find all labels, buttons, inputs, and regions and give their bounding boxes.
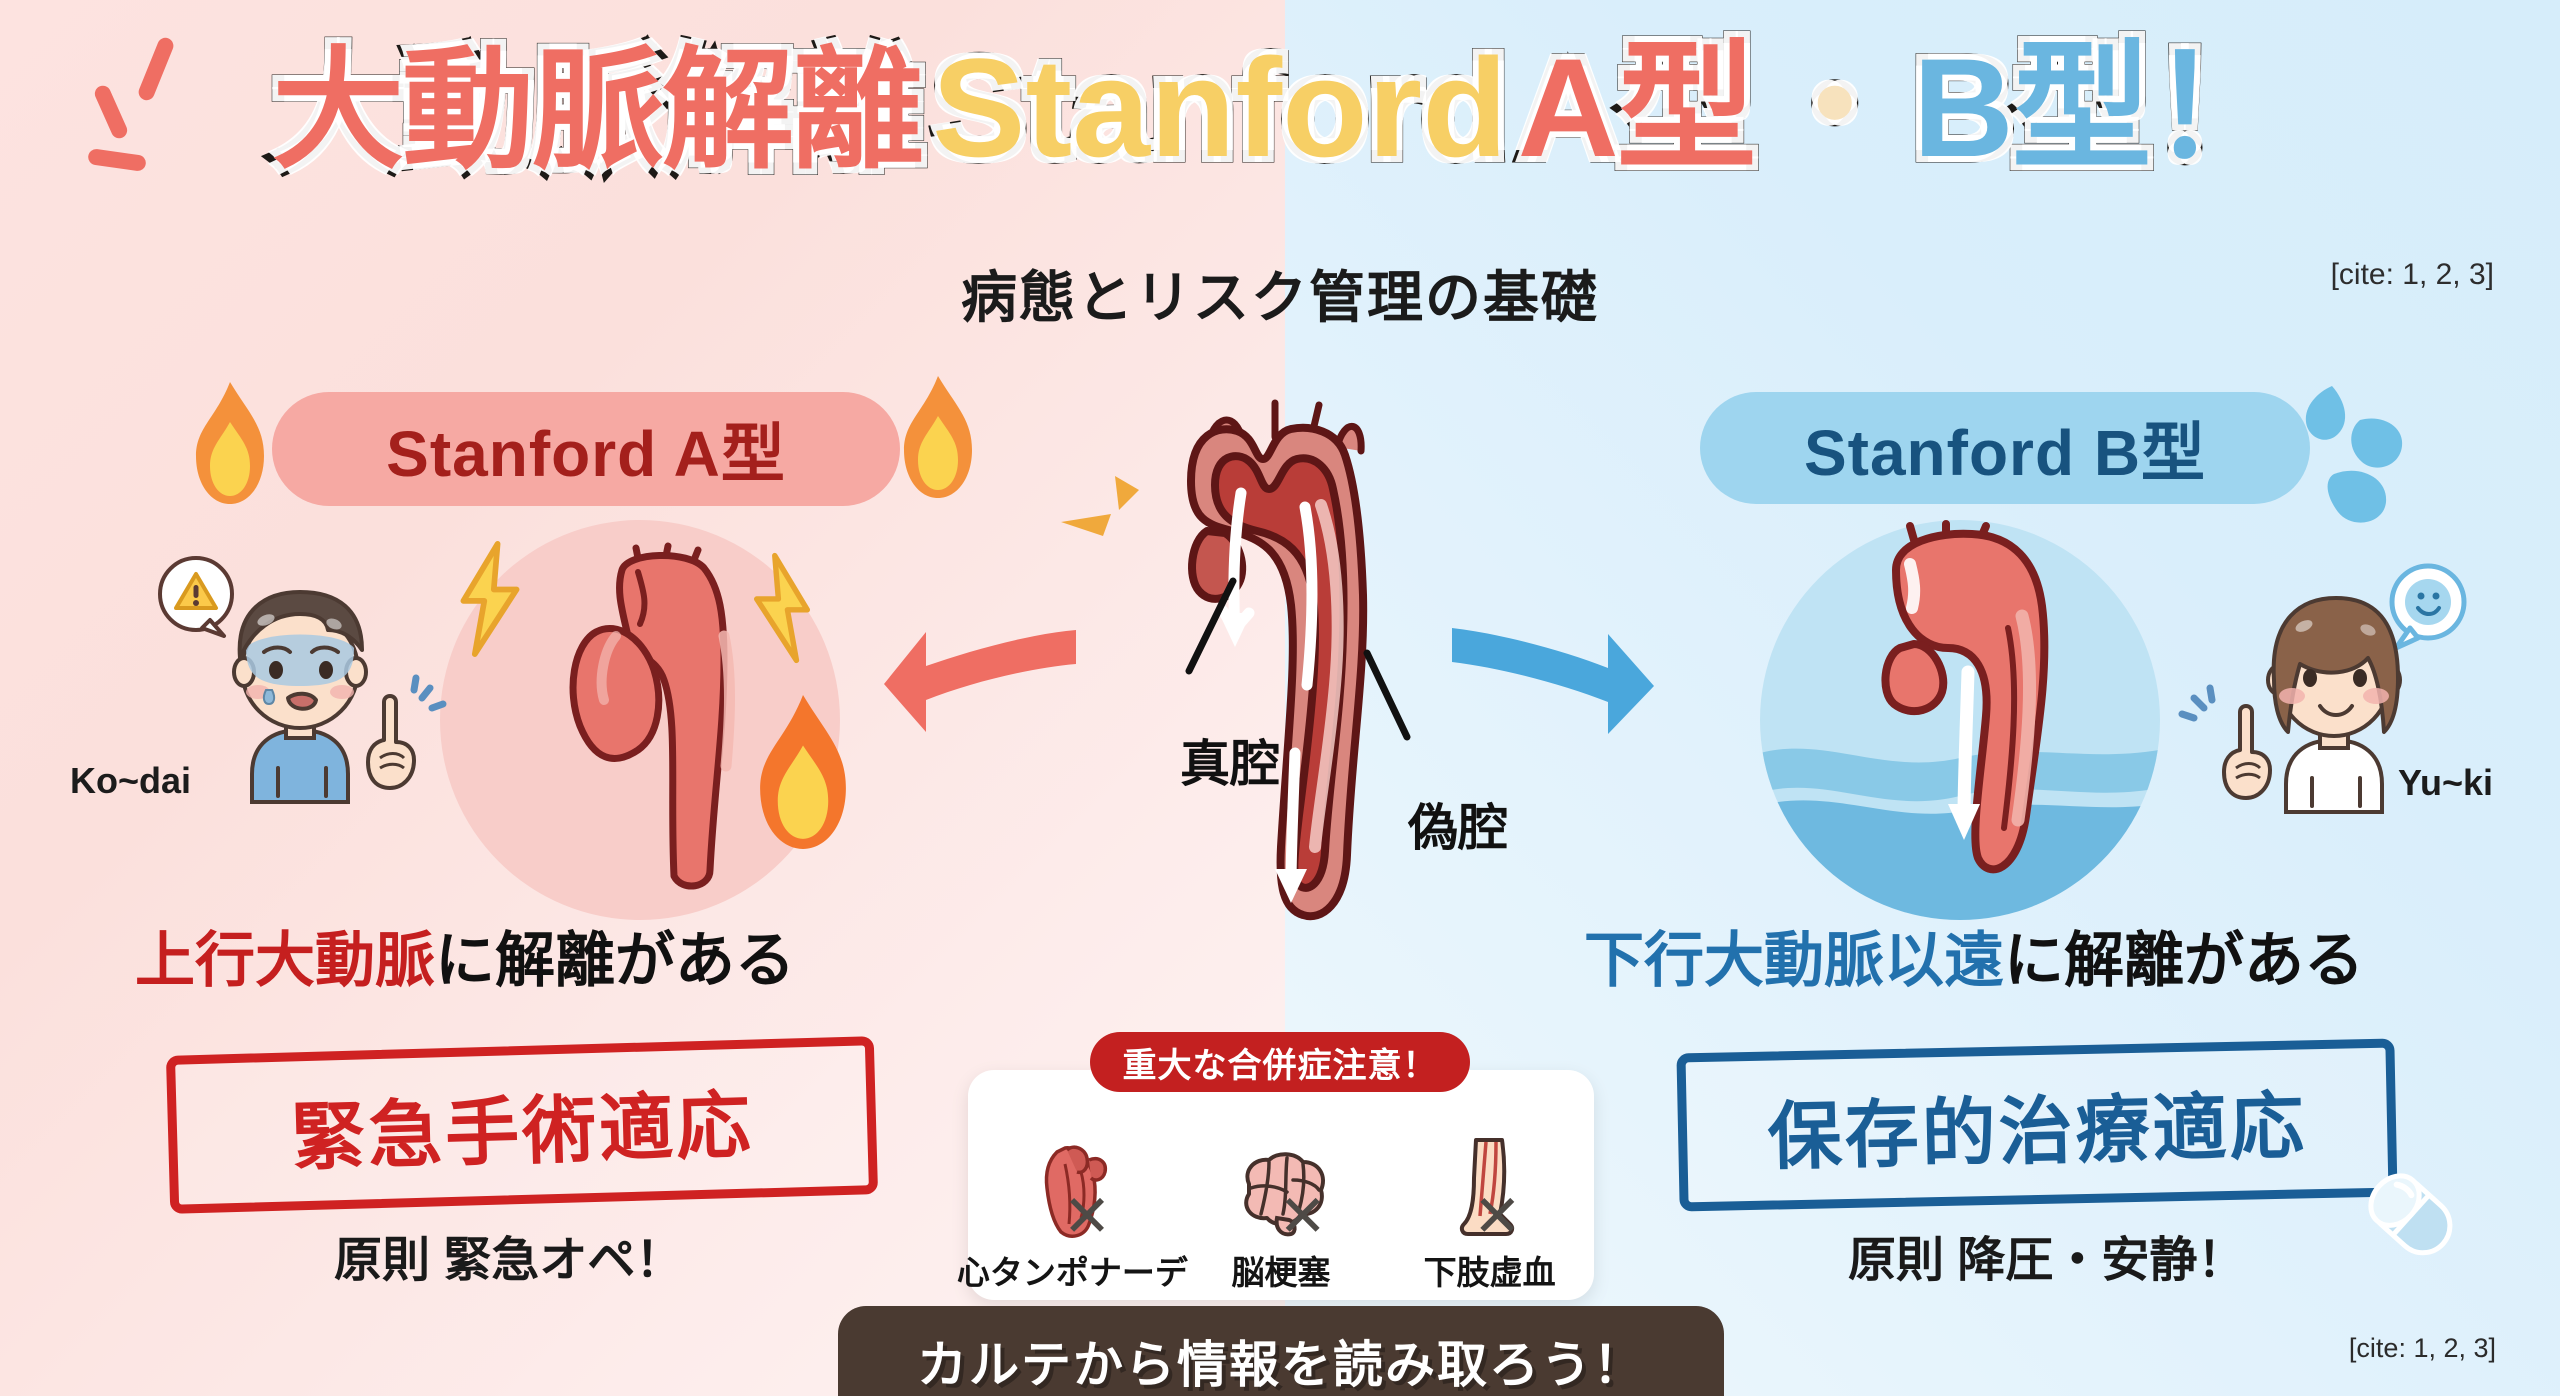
type-b-stamp-label: 保存的治療適応 (1766, 1066, 2307, 1184)
bottom-banner-label: カルテから情報を読み取ろう！ (917, 1325, 1645, 1396)
type-b-badge-label: Stanford B型 (1804, 402, 2206, 494)
type-a-badge: Stanford A型 (272, 392, 900, 506)
character-yuki (2178, 560, 2478, 860)
character-name-left: Ko~dai (70, 760, 191, 802)
character-name-right: Yu~ki (2398, 762, 2493, 804)
type-b-badge: Stanford B型 (1700, 392, 2310, 504)
cross-mark-icon: ✕ (1063, 1188, 1112, 1246)
lightning-icon (744, 552, 820, 664)
complications-list: ✕ 心タンポナーデ ✕ 脳梗塞 ✕ (968, 1108, 1594, 1294)
bottom-banner: カルテから情報を読み取ろう！ (838, 1306, 1724, 1396)
complication-label: 下肢虚血 (1424, 1246, 1556, 1294)
character-kodai (148, 552, 448, 852)
title-separator: ・ (1765, 34, 1903, 181)
page-title: 大動脈解離 Stanford A型 ・ B型！ (0, 34, 2560, 181)
page-subtitle: 病態とリスク管理の基礎 (0, 253, 2560, 334)
type-b-note: 原則 降圧・安静！ (1848, 1220, 2245, 1290)
complication-item: ✕ 心タンポナーデ (972, 1138, 1172, 1294)
complications-header: 重大な合併症注意！ (1090, 1032, 1470, 1092)
complication-item: ✕ 脳梗塞 (1181, 1138, 1381, 1294)
leg-icon: ✕ (1452, 1138, 1528, 1242)
brain-icon: ✕ (1229, 1138, 1333, 1242)
type-a-description: 上行大動脈に解離がある (135, 912, 795, 999)
aorta-dissection-diagram (1115, 385, 1465, 955)
flame-icon (898, 372, 978, 502)
type-a-stamp: 緊急手術適応 (166, 1036, 878, 1214)
label-false-lumen: 偽腔 (1408, 788, 1508, 860)
citation-top: [cite: 1, 2, 3] (2331, 258, 2494, 292)
label-true-lumen: 真腔 (1180, 724, 1280, 796)
heart-icon: ✕ (1027, 1138, 1117, 1242)
title-type-a: A型 (1518, 34, 1755, 181)
complications-header-label: 重大な合併症注意！ (1123, 1038, 1438, 1087)
type-b-stamp: 保存的治療適応 (1676, 1038, 2397, 1211)
title-type-b: B型！ (1913, 34, 2288, 181)
arrow-right-to-type-b (1448, 620, 1658, 760)
citation-bottom: [cite: 1, 2, 3] (2349, 1333, 2496, 1364)
type-b-description-highlight: 下行大動脈以遠 (1584, 927, 2004, 994)
complication-label: 心タンポナーデ (957, 1246, 1188, 1294)
type-b-description-rest: に解離がある (2004, 927, 2364, 994)
type-b-description: 下行大動脈以遠に解離がある (1584, 912, 2364, 999)
type-a-note: 原則 緊急オペ！ (334, 1220, 683, 1290)
title-japanese: 大動脈解離 (272, 42, 922, 181)
infographic-canvas: 大動脈解離 Stanford A型 ・ B型！ 病態とリスク管理の基礎 [cit… (0, 0, 2560, 1396)
complication-label: 脳梗塞 (1231, 1246, 1330, 1294)
lightning-icon (452, 540, 528, 658)
cross-mark-icon: ✕ (1278, 1188, 1327, 1246)
type-a-badge-label: Stanford A型 (386, 403, 786, 495)
flame-icon (750, 690, 856, 854)
flame-icon (190, 378, 270, 508)
cross-mark-icon: ✕ (1473, 1188, 1522, 1246)
complication-item: ✕ 下肢虚血 (1390, 1138, 1590, 1294)
pill-icon (2336, 1140, 2486, 1290)
title-stanford: Stanford (932, 34, 1508, 181)
splash-icon (2290, 380, 2410, 530)
arrow-left-to-type-a (880, 620, 1080, 760)
type-a-description-rest: に解離がある (435, 927, 795, 994)
type-a-stamp-label: 緊急手術適応 (290, 1065, 755, 1185)
type-a-description-highlight: 上行大動脈 (135, 927, 435, 994)
aorta-type-b-diagram (1822, 520, 2122, 920)
